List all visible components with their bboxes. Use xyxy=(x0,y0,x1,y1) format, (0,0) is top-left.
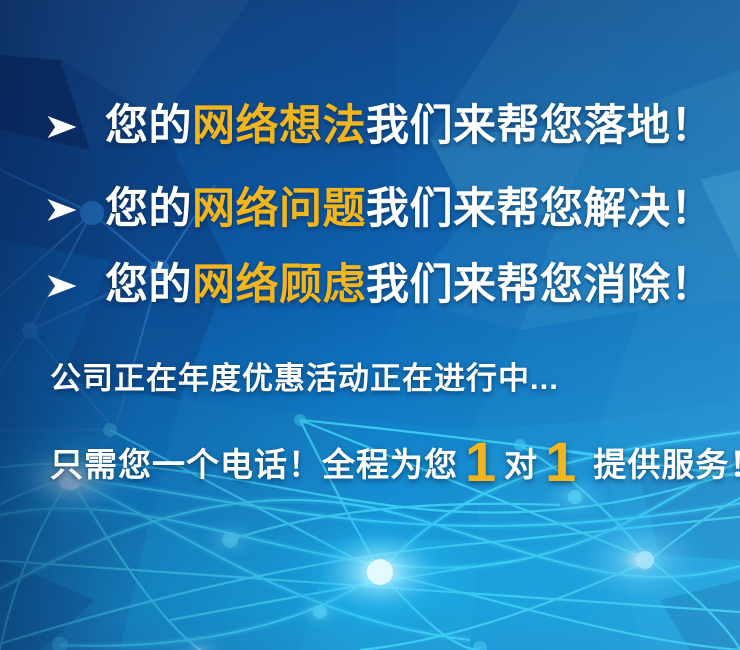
service-note-part2: 提供服务！ xyxy=(593,448,740,481)
claim-2-suffix: 我们来帮您解决！ xyxy=(366,185,714,233)
arrow-right-marker-icon xyxy=(45,269,79,303)
service-note: 只需您一个电话！全程为您 1 对 1 提供服务！ xyxy=(50,429,740,485)
service-number-first: 1 xyxy=(458,434,504,490)
claim-1-highlight: 网络想法 xyxy=(192,102,366,150)
claim-3-suffix: 我们来帮您消除！ xyxy=(366,261,714,309)
claim-row-2: 您的网络问题我们来帮您解决！ xyxy=(45,188,714,231)
arrow-right-marker-icon xyxy=(45,193,79,227)
claim-text-2: 您的网络问题我们来帮您解决！ xyxy=(105,188,714,231)
claim-text-1: 您的网络想法我们来帮您落地！ xyxy=(105,105,714,148)
service-number-second: 1 xyxy=(538,434,584,490)
claim-1-prefix: 您的 xyxy=(105,102,192,150)
claim-3-prefix: 您的 xyxy=(105,261,192,309)
service-note-part1: 只需您一个电话！全程为您 xyxy=(50,448,458,481)
copy-block: 您的网络想法我们来帮您落地！ 您的网络问题我们来帮您解决！ 您的网络顾虑我们来帮… xyxy=(0,0,740,650)
promo-banner: 您的网络想法我们来帮您落地！ 您的网络问题我们来帮您解决！ 您的网络顾虑我们来帮… xyxy=(0,0,740,650)
claim-2-highlight: 网络问题 xyxy=(192,185,366,233)
claim-text-3: 您的网络顾虑我们来帮您消除！ xyxy=(105,264,714,307)
promo-note: 公司正在年度优惠活动正在进行中... xyxy=(50,363,559,394)
claim-3-highlight: 网络顾虑 xyxy=(192,261,366,309)
claim-row-1: 您的网络想法我们来帮您落地！ xyxy=(45,105,714,148)
claim-row-3: 您的网络顾虑我们来帮您消除！ xyxy=(45,264,714,307)
claim-1-suffix: 我们来帮您落地！ xyxy=(366,102,714,150)
arrow-right-marker-icon xyxy=(45,110,79,144)
service-note-middle: 对 xyxy=(504,448,538,481)
claim-2-prefix: 您的 xyxy=(105,185,192,233)
